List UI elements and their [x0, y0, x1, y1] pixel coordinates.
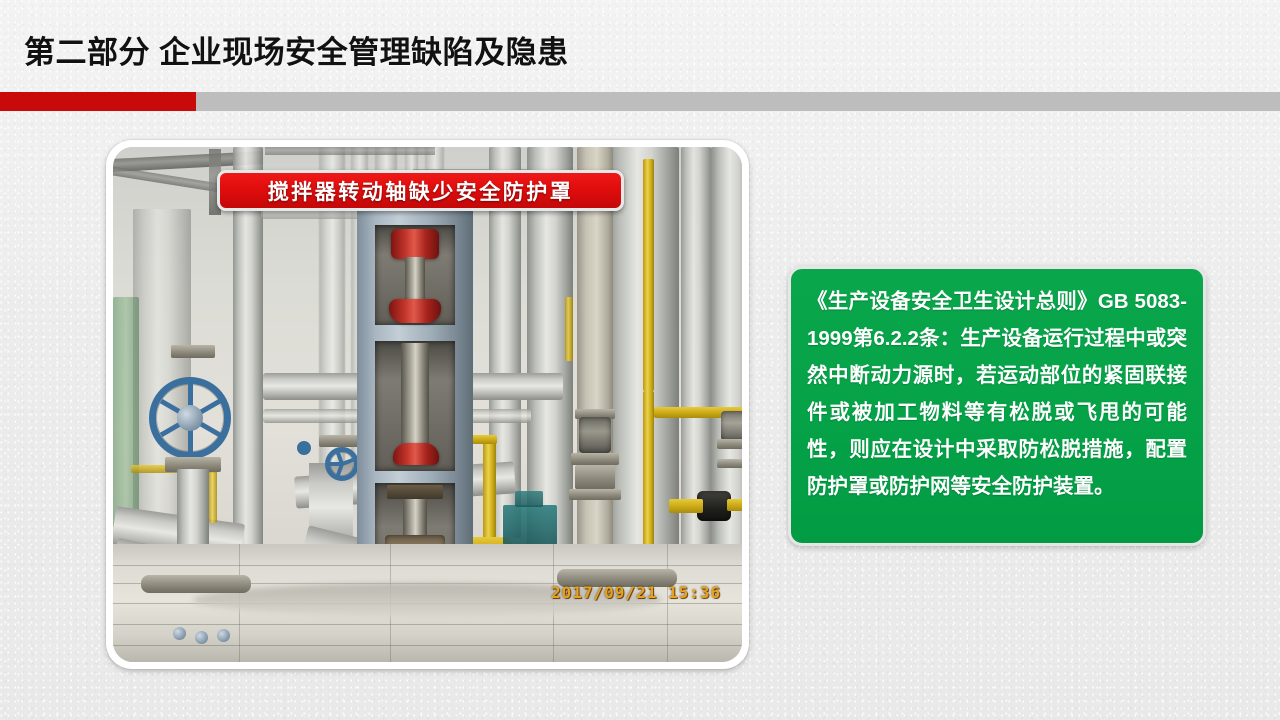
divider-red-segment: [0, 92, 196, 111]
agitator-coupling-red: [391, 229, 439, 259]
photo-caption-banner: 搅拌器转动轴缺少安全防护罩: [217, 170, 624, 211]
photo-caption-text: 搅拌器转动轴缺少安全防护罩: [268, 176, 574, 206]
header-divider: [0, 92, 1280, 111]
agitator-rotating-shaft: [401, 343, 429, 449]
regulation-text: 《生产设备安全卫生设计总则》GB 5083-1999第6.2.2条：生产设备运行…: [807, 283, 1187, 505]
photo-timestamp: 2017/09/21 15:36: [551, 583, 721, 602]
regulation-callout-box: 《生产设备安全卫生设计总则》GB 5083-1999第6.2.2条：生产设备运行…: [788, 266, 1206, 546]
site-photo: 搅拌器转动轴缺少安全防护罩 2017/09/21 15:36: [113, 147, 742, 662]
photo-frame: 搅拌器转动轴缺少安全防护罩 2017/09/21 15:36: [106, 140, 749, 669]
divider-grey-segment: [196, 92, 1280, 111]
page-title: 第二部分 企业现场安全管理缺陷及隐患: [24, 27, 569, 72]
slide-canvas: 第二部分 企业现场安全管理缺陷及隐患: [0, 0, 1280, 720]
